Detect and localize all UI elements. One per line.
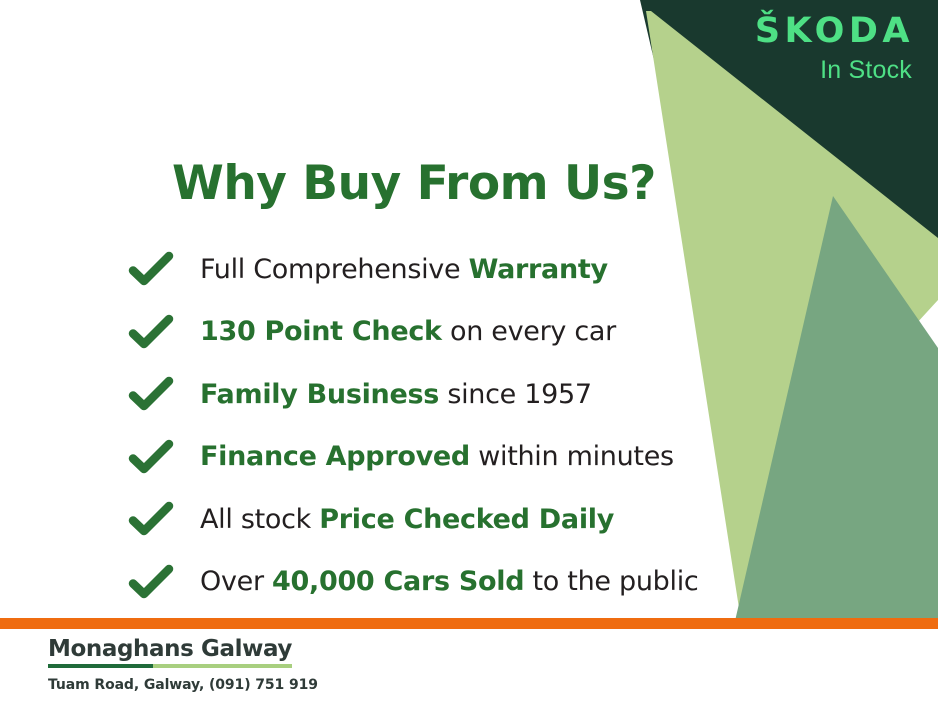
benefit-plain: within minutes — [470, 441, 674, 472]
skoda-wordmark: ŠKODA — [755, 14, 914, 49]
benefit-highlight: 40,000 Cars Sold — [272, 566, 524, 597]
benefit-plain: Over — [200, 566, 272, 597]
promotional-poster: ŠKODA In Stock Why Buy From Us? Full Com… — [0, 0, 938, 704]
check-icon — [128, 312, 174, 352]
footer: Monaghans Galway Tuam Road, Galway, (091… — [48, 636, 318, 693]
benefit-text: Family Business since 1957 — [200, 379, 592, 410]
benefit-highlight: 130 Point Check — [200, 316, 442, 347]
benefit-text: 130 Point Check on every car — [200, 316, 616, 347]
benefit-plain: Full Comprehensive — [200, 254, 469, 285]
skoda-brand-lockup: ŠKODA In Stock — [755, 14, 914, 83]
benefit-item: All stock Price Checked Daily — [128, 488, 828, 551]
in-stock-label: In Stock — [755, 58, 912, 83]
benefit-plain: All stock — [200, 504, 319, 535]
orange-divider-bar — [0, 618, 938, 629]
benefit-item: Full Comprehensive Warranty — [128, 238, 828, 301]
benefit-plain: on every car — [442, 316, 616, 347]
benefit-plain: to the public — [524, 566, 698, 597]
dealer-address: Tuam Road, Galway, (091) 751 919 — [48, 677, 318, 693]
benefit-text: Full Comprehensive Warranty — [200, 254, 608, 285]
check-icon — [128, 437, 174, 477]
benefit-text: Over 40,000 Cars Sold to the public — [200, 566, 698, 597]
benefit-item: 130 Point Check on every car — [128, 301, 828, 364]
benefit-item: Finance Approved within minutes — [128, 426, 828, 489]
benefit-plain: since 1957 — [439, 379, 592, 410]
benefit-item: Family Business since 1957 — [128, 363, 828, 426]
check-icon — [128, 562, 174, 602]
benefit-highlight: Finance Approved — [200, 441, 470, 472]
benefit-text: All stock Price Checked Daily — [200, 504, 614, 535]
benefit-highlight: Price Checked Daily — [319, 504, 614, 535]
benefit-highlight: Family Business — [200, 379, 439, 410]
benefits-list: Full Comprehensive Warranty130 Point Che… — [128, 238, 828, 613]
benefit-highlight: Warranty — [469, 254, 608, 285]
dealer-name-block: Monaghans Galway — [48, 636, 292, 668]
page-title: Why Buy From Us? — [172, 156, 656, 211]
benefit-item: Over 40,000 Cars Sold to the public — [128, 551, 828, 614]
benefit-text: Finance Approved within minutes — [200, 441, 674, 472]
check-icon — [128, 249, 174, 289]
check-icon — [128, 499, 174, 539]
check-icon — [128, 374, 174, 414]
dealer-name: Monaghans Galway — [48, 636, 292, 662]
dealer-name-underline — [48, 664, 292, 668]
